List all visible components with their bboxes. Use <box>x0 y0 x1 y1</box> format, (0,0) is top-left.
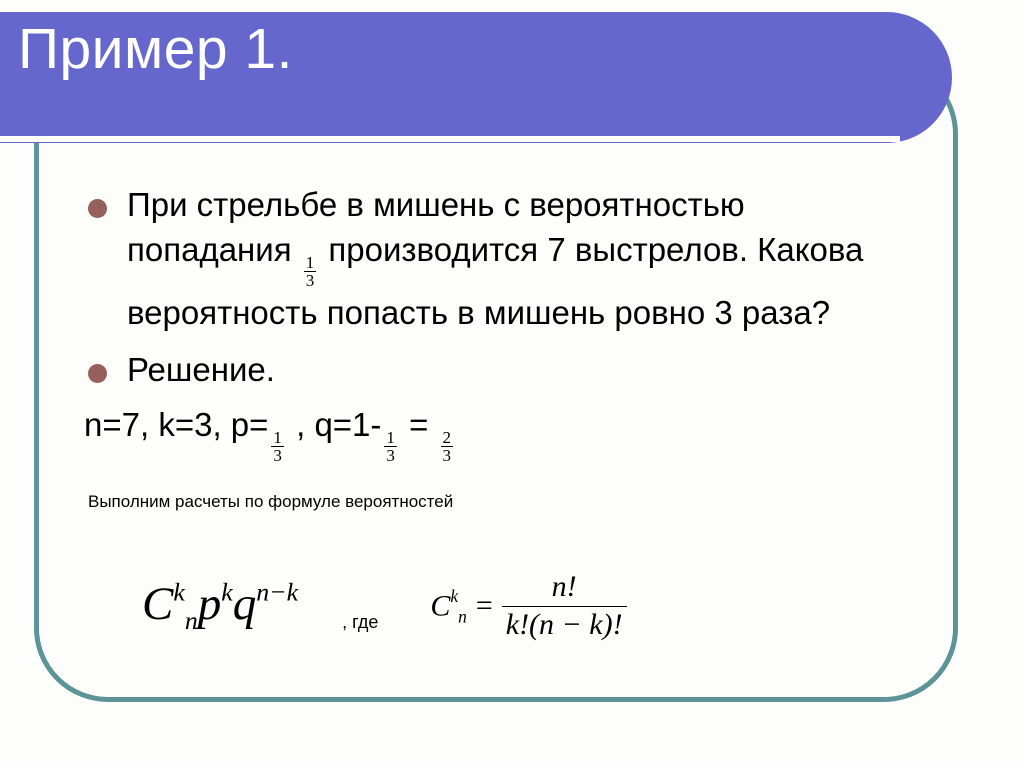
where-label: , где <box>342 612 378 633</box>
formula-q: q <box>233 578 257 630</box>
formula-c-subscript: n <box>185 606 198 635</box>
definition-denominator: k!(n − k)! <box>502 606 627 643</box>
fraction-p-value: 13 <box>271 429 284 465</box>
fraction-numerator: 1 <box>384 429 397 446</box>
inline-fraction-one-third: 13 <box>304 254 317 290</box>
fraction-numerator: 1 <box>304 254 317 271</box>
fraction-denominator: 3 <box>384 446 397 464</box>
param-n: n=7, <box>84 406 158 443</box>
definition-c-subscript: n <box>458 606 467 626</box>
fraction-numerator: 1 <box>271 429 284 446</box>
bullet-dot-icon <box>88 199 107 218</box>
fraction-denominator: 3 <box>271 446 284 464</box>
definition-c-term: Ckn <box>430 586 466 628</box>
parameters-line: n=7, k=3, p=13 , q=1-13 = 23 <box>84 402 1024 465</box>
definition-numerator: n! <box>543 570 586 606</box>
param-equals: = <box>400 406 438 443</box>
definition-equals-sign: = <box>476 589 493 623</box>
fraction-q-subtrahend: 13 <box>384 429 397 465</box>
fraction-q-result: 23 <box>441 429 454 465</box>
bullet-dot-icon <box>88 364 107 383</box>
definition-fraction: n! k!(n − k)! <box>502 570 627 643</box>
fraction-denominator: 3 <box>441 446 454 464</box>
definition-c: C <box>430 589 450 622</box>
combination-definition-formula: Ckn = n! k!(n − k)! <box>430 570 626 643</box>
page-title: Пример 1. <box>18 18 293 81</box>
param-k: k=3, <box>158 406 230 443</box>
list-item: Решение. <box>0 347 1024 392</box>
fraction-numerator: 2 <box>441 429 454 446</box>
fraction-denominator: 3 <box>304 271 317 289</box>
slide-root: Пример 1. При стрельбе в мишень с вероят… <box>0 0 1024 767</box>
formula-c: C <box>142 578 173 630</box>
title-underline-rule <box>0 136 900 142</box>
formula-p: p <box>198 578 222 630</box>
formula-c-superscript: k <box>173 577 184 606</box>
param-p-label: p= <box>231 406 269 443</box>
definition-c-superscript: k <box>450 586 458 606</box>
list-item: При стрельбе в мишень с вероятностью поп… <box>0 182 1024 335</box>
param-separator: , <box>287 406 315 443</box>
calculation-note: Выполним расчеты по формуле вероятностей <box>88 491 1024 513</box>
bernoulli-formula: Cknpkqn−k <box>142 577 298 636</box>
slide-body: При стрельбе в мишень с вероятностью поп… <box>0 150 1024 710</box>
formula-row: Cknpkqn−k , где Ckn = n! k!(n − k)! <box>0 570 1024 643</box>
title-banner: Пример 1. <box>0 12 952 143</box>
problem-statement-text: При стрельбе в мишень с вероятностью поп… <box>127 182 917 335</box>
solution-heading-text: Решение. <box>127 347 275 392</box>
formula-p-superscript: k <box>221 577 232 606</box>
formula-q-superscript: n−k <box>256 577 298 606</box>
param-q-label: q=1- <box>314 406 381 443</box>
